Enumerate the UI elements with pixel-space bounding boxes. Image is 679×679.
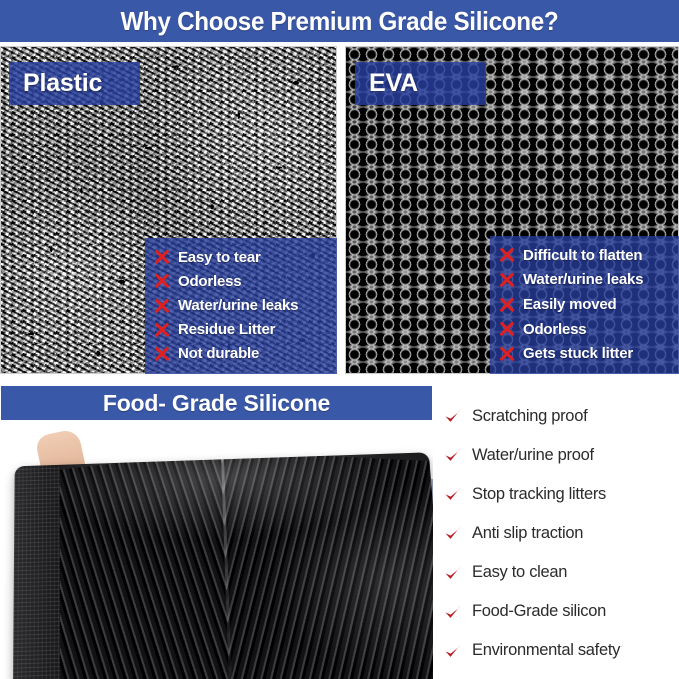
red-x-icon xyxy=(153,273,170,290)
red-check-icon xyxy=(443,445,463,465)
cons-list-item: Not durable xyxy=(153,342,327,366)
benefit-list-item-label: Environmental safety xyxy=(472,641,620,660)
benefits-list: Scratching proof Water/urine proof Stop … xyxy=(433,386,679,679)
material-badge-plastic-label: Plastic xyxy=(23,69,102,98)
cons-list-item-label: Easily moved xyxy=(523,296,616,313)
showcase-title-bar: Food- Grade Silicone xyxy=(1,386,432,420)
cons-list-item-label: Gets stuck litter xyxy=(523,345,633,362)
cons-list-item: Odorless xyxy=(498,317,669,342)
benefit-list-item-label: Anti slip traction xyxy=(472,524,583,543)
red-x-icon xyxy=(498,271,515,288)
cons-list-item-label: Difficult to flatten xyxy=(523,247,642,264)
red-x-icon xyxy=(153,321,170,338)
cons-list-item: Easily moved xyxy=(498,292,669,317)
cons-list-item-label: Easy to tear xyxy=(178,249,261,266)
benefit-list-item: Environmental safety xyxy=(443,633,675,669)
cons-list-item: Gets stuck litter xyxy=(498,341,669,366)
cons-list-item: Water/urine leaks xyxy=(498,268,669,293)
cons-list-item: Water/urine leaks xyxy=(153,293,327,317)
cons-list-item-label: Odorless xyxy=(523,321,586,338)
header-banner: Why Choose Premium Grade Silicone? xyxy=(0,0,679,42)
red-x-icon xyxy=(498,321,515,338)
benefit-list-item: Easy to clean xyxy=(443,555,675,591)
benefit-list-item-label: Easy to clean xyxy=(472,563,567,582)
benefit-list-item-label: Stop tracking litters xyxy=(472,485,606,504)
red-x-icon xyxy=(153,249,170,266)
showcase-title: Food- Grade Silicone xyxy=(103,390,330,417)
red-check-icon xyxy=(443,484,463,504)
cons-list-item-label: Residue Litter xyxy=(178,321,275,338)
material-badge-eva: EVA xyxy=(355,62,486,105)
mat-sheen xyxy=(13,452,433,679)
red-x-icon xyxy=(498,296,515,313)
red-check-icon xyxy=(443,563,463,583)
cons-list-eva: Difficult to flatten Water/urine leaks E… xyxy=(490,236,679,374)
cons-list-item: Odorless xyxy=(153,269,327,293)
cons-list-item: Residue Litter xyxy=(153,318,327,342)
red-check-icon xyxy=(443,602,463,622)
red-x-icon xyxy=(498,247,515,264)
cons-list-item: Difficult to flatten xyxy=(498,243,669,268)
benefit-list-item: Anti slip traction xyxy=(443,515,675,551)
red-check-icon xyxy=(443,523,463,543)
benefit-list-item: Scratching proof xyxy=(443,398,675,434)
cons-list-item-label: Not durable xyxy=(178,345,259,362)
benefit-list-item-label: Scratching proof xyxy=(472,407,587,426)
red-x-icon xyxy=(153,345,170,362)
benefit-list-item-label: Water/urine proof xyxy=(472,446,594,465)
silicone-mat xyxy=(13,452,433,679)
red-check-icon xyxy=(443,641,463,661)
cons-list-item: Easy to tear xyxy=(153,245,327,269)
cons-list-plastic: Easy to tear Odorless Water/urine leaks … xyxy=(145,238,337,374)
material-badge-eva-label: EVA xyxy=(369,69,418,98)
benefit-list-item-label: Food-Grade silicon xyxy=(472,602,606,621)
cons-list-item-label: Water/urine leaks xyxy=(178,297,298,314)
cons-list-item-label: Water/urine leaks xyxy=(523,271,643,288)
red-x-icon xyxy=(498,345,515,362)
infographic-root: Why Choose Premium Grade Silicone? Plast… xyxy=(0,0,679,679)
red-x-icon xyxy=(153,297,170,314)
cons-list-item-label: Odorless xyxy=(178,273,241,290)
red-check-icon xyxy=(443,406,463,426)
benefit-list-item: Water/urine proof xyxy=(443,437,675,473)
benefit-list-item: Food-Grade silicon xyxy=(443,594,675,630)
material-badge-plastic: Plastic xyxy=(9,62,140,105)
page-title: Why Choose Premium Grade Silicone? xyxy=(121,6,559,37)
silicone-mat-photo xyxy=(0,420,433,679)
silicone-showcase: Food- Grade Silicone xyxy=(0,386,433,679)
benefit-list-item: Stop tracking litters xyxy=(443,476,675,512)
